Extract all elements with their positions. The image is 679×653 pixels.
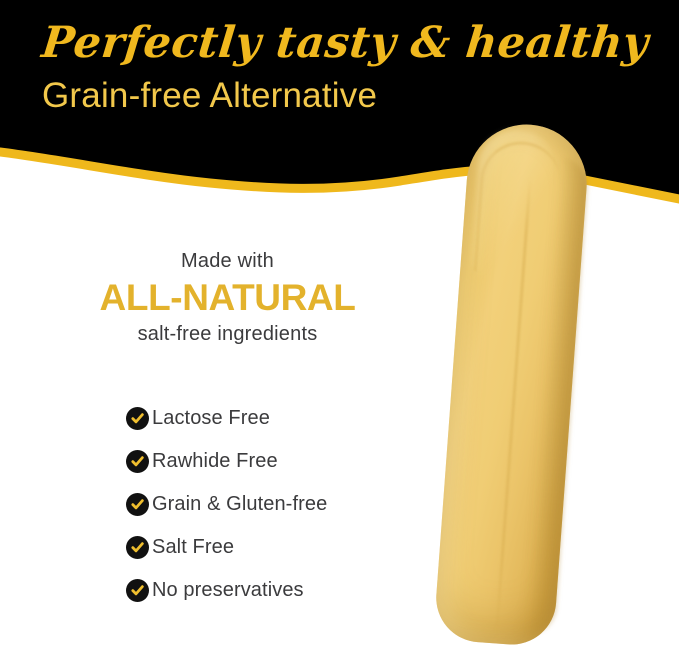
- feature-label: Lactose Free: [152, 407, 270, 430]
- feature-label: Rawhide Free: [152, 450, 278, 473]
- check-circle-icon: [126, 407, 149, 430]
- check-circle-icon: [126, 536, 149, 559]
- list-item: Lactose Free: [126, 403, 327, 433]
- made-with-block: Made with ALL-NATURAL salt-free ingredie…: [0, 248, 455, 347]
- feature-label: No preservatives: [152, 579, 304, 602]
- feature-label: Grain & Gluten-free: [152, 493, 327, 516]
- promo-title-script: Perfectly tasty & healthy: [39, 18, 651, 68]
- promo-title-subtitle: Grain-free Alternative: [42, 76, 377, 116]
- list-item: Grain & Gluten-free: [126, 489, 327, 519]
- promo-infographic: Perfectly tasty & healthy Grain-free Alt…: [0, 0, 679, 653]
- all-natural-headline: ALL-NATURAL: [0, 276, 455, 320]
- check-circle-icon: [126, 493, 149, 516]
- feature-label: Salt Free: [152, 536, 234, 559]
- salt-free-subline: salt-free ingredients: [0, 321, 455, 347]
- chew-edge-ridge: [495, 177, 531, 646]
- list-item: No preservatives: [126, 575, 327, 605]
- check-circle-icon: [126, 579, 149, 602]
- header-text-group: Perfectly tasty & healthy Grain-free Alt…: [0, 0, 679, 200]
- made-with-label: Made with: [0, 248, 455, 274]
- list-item: Rawhide Free: [126, 446, 327, 476]
- check-circle-icon: [126, 450, 149, 473]
- list-item: Salt Free: [126, 532, 327, 562]
- feature-list: Lactose Free Rawhide Free Grain & Gluten…: [126, 403, 327, 618]
